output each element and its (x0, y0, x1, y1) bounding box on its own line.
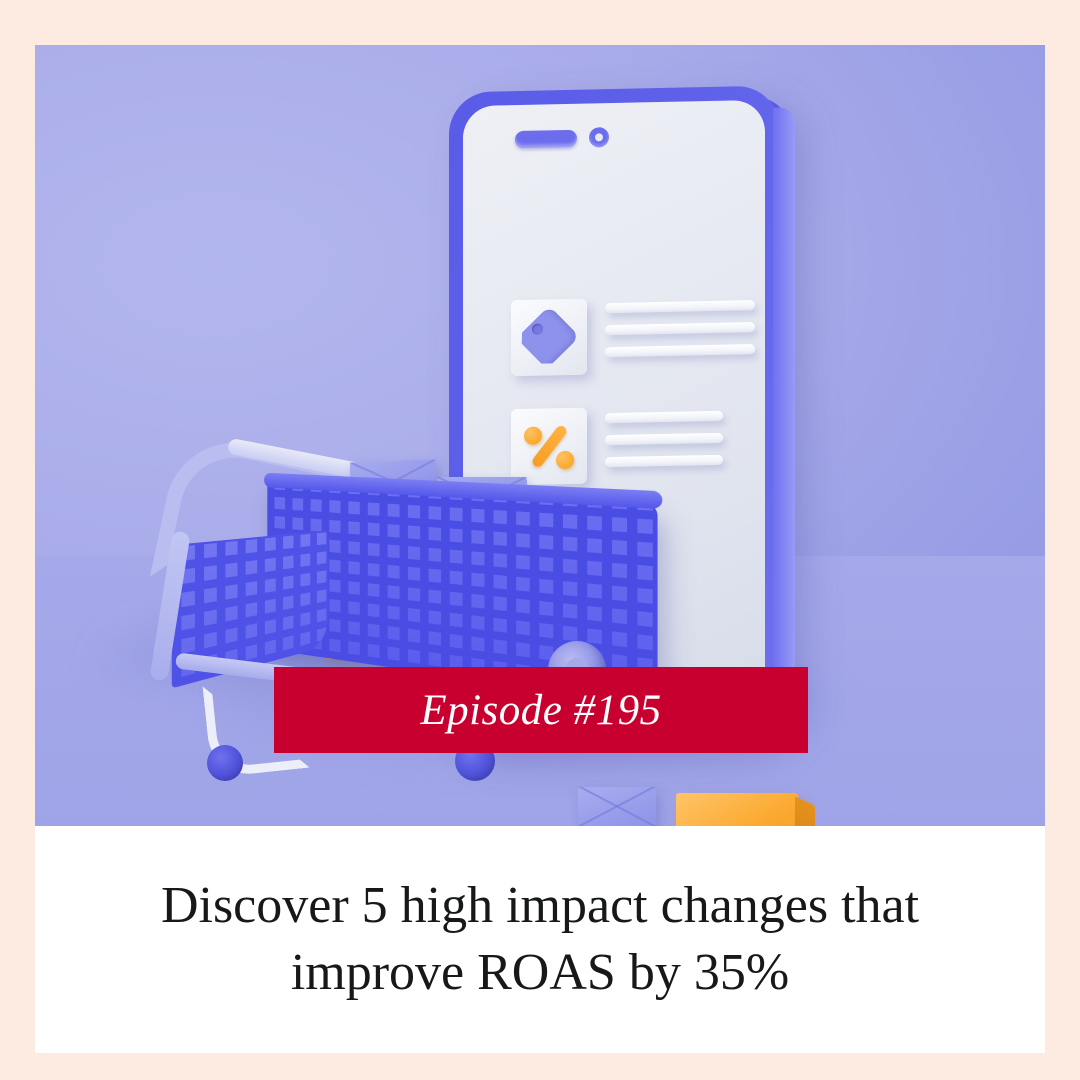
floor-envelope-package (578, 787, 656, 826)
price-tag-icon (516, 306, 580, 370)
cart-wheel (207, 745, 243, 781)
speaker-icon (515, 130, 577, 148)
episode-banner: Episode #195 (274, 667, 808, 753)
episode-number-label: Episode #195 (420, 689, 661, 732)
shopping-cart-illustration (155, 445, 655, 815)
text-bar (605, 300, 755, 313)
text-bar (605, 344, 755, 357)
podcast-cover: Episode #195 Discover 5 high impact chan… (0, 0, 1080, 1080)
percent-dot-icon (524, 427, 542, 445)
text-bar (605, 322, 755, 335)
text-bar (605, 433, 723, 445)
price-tag-card (511, 299, 587, 377)
caption-panel: Discover 5 high impact changes that impr… (35, 826, 1045, 1053)
text-bar (605, 411, 723, 423)
phone-side-edge (773, 107, 795, 707)
floor-parcel-large (676, 793, 798, 826)
camera-icon (589, 127, 609, 147)
episode-title: Discover 5 high impact changes that impr… (100, 873, 980, 1006)
